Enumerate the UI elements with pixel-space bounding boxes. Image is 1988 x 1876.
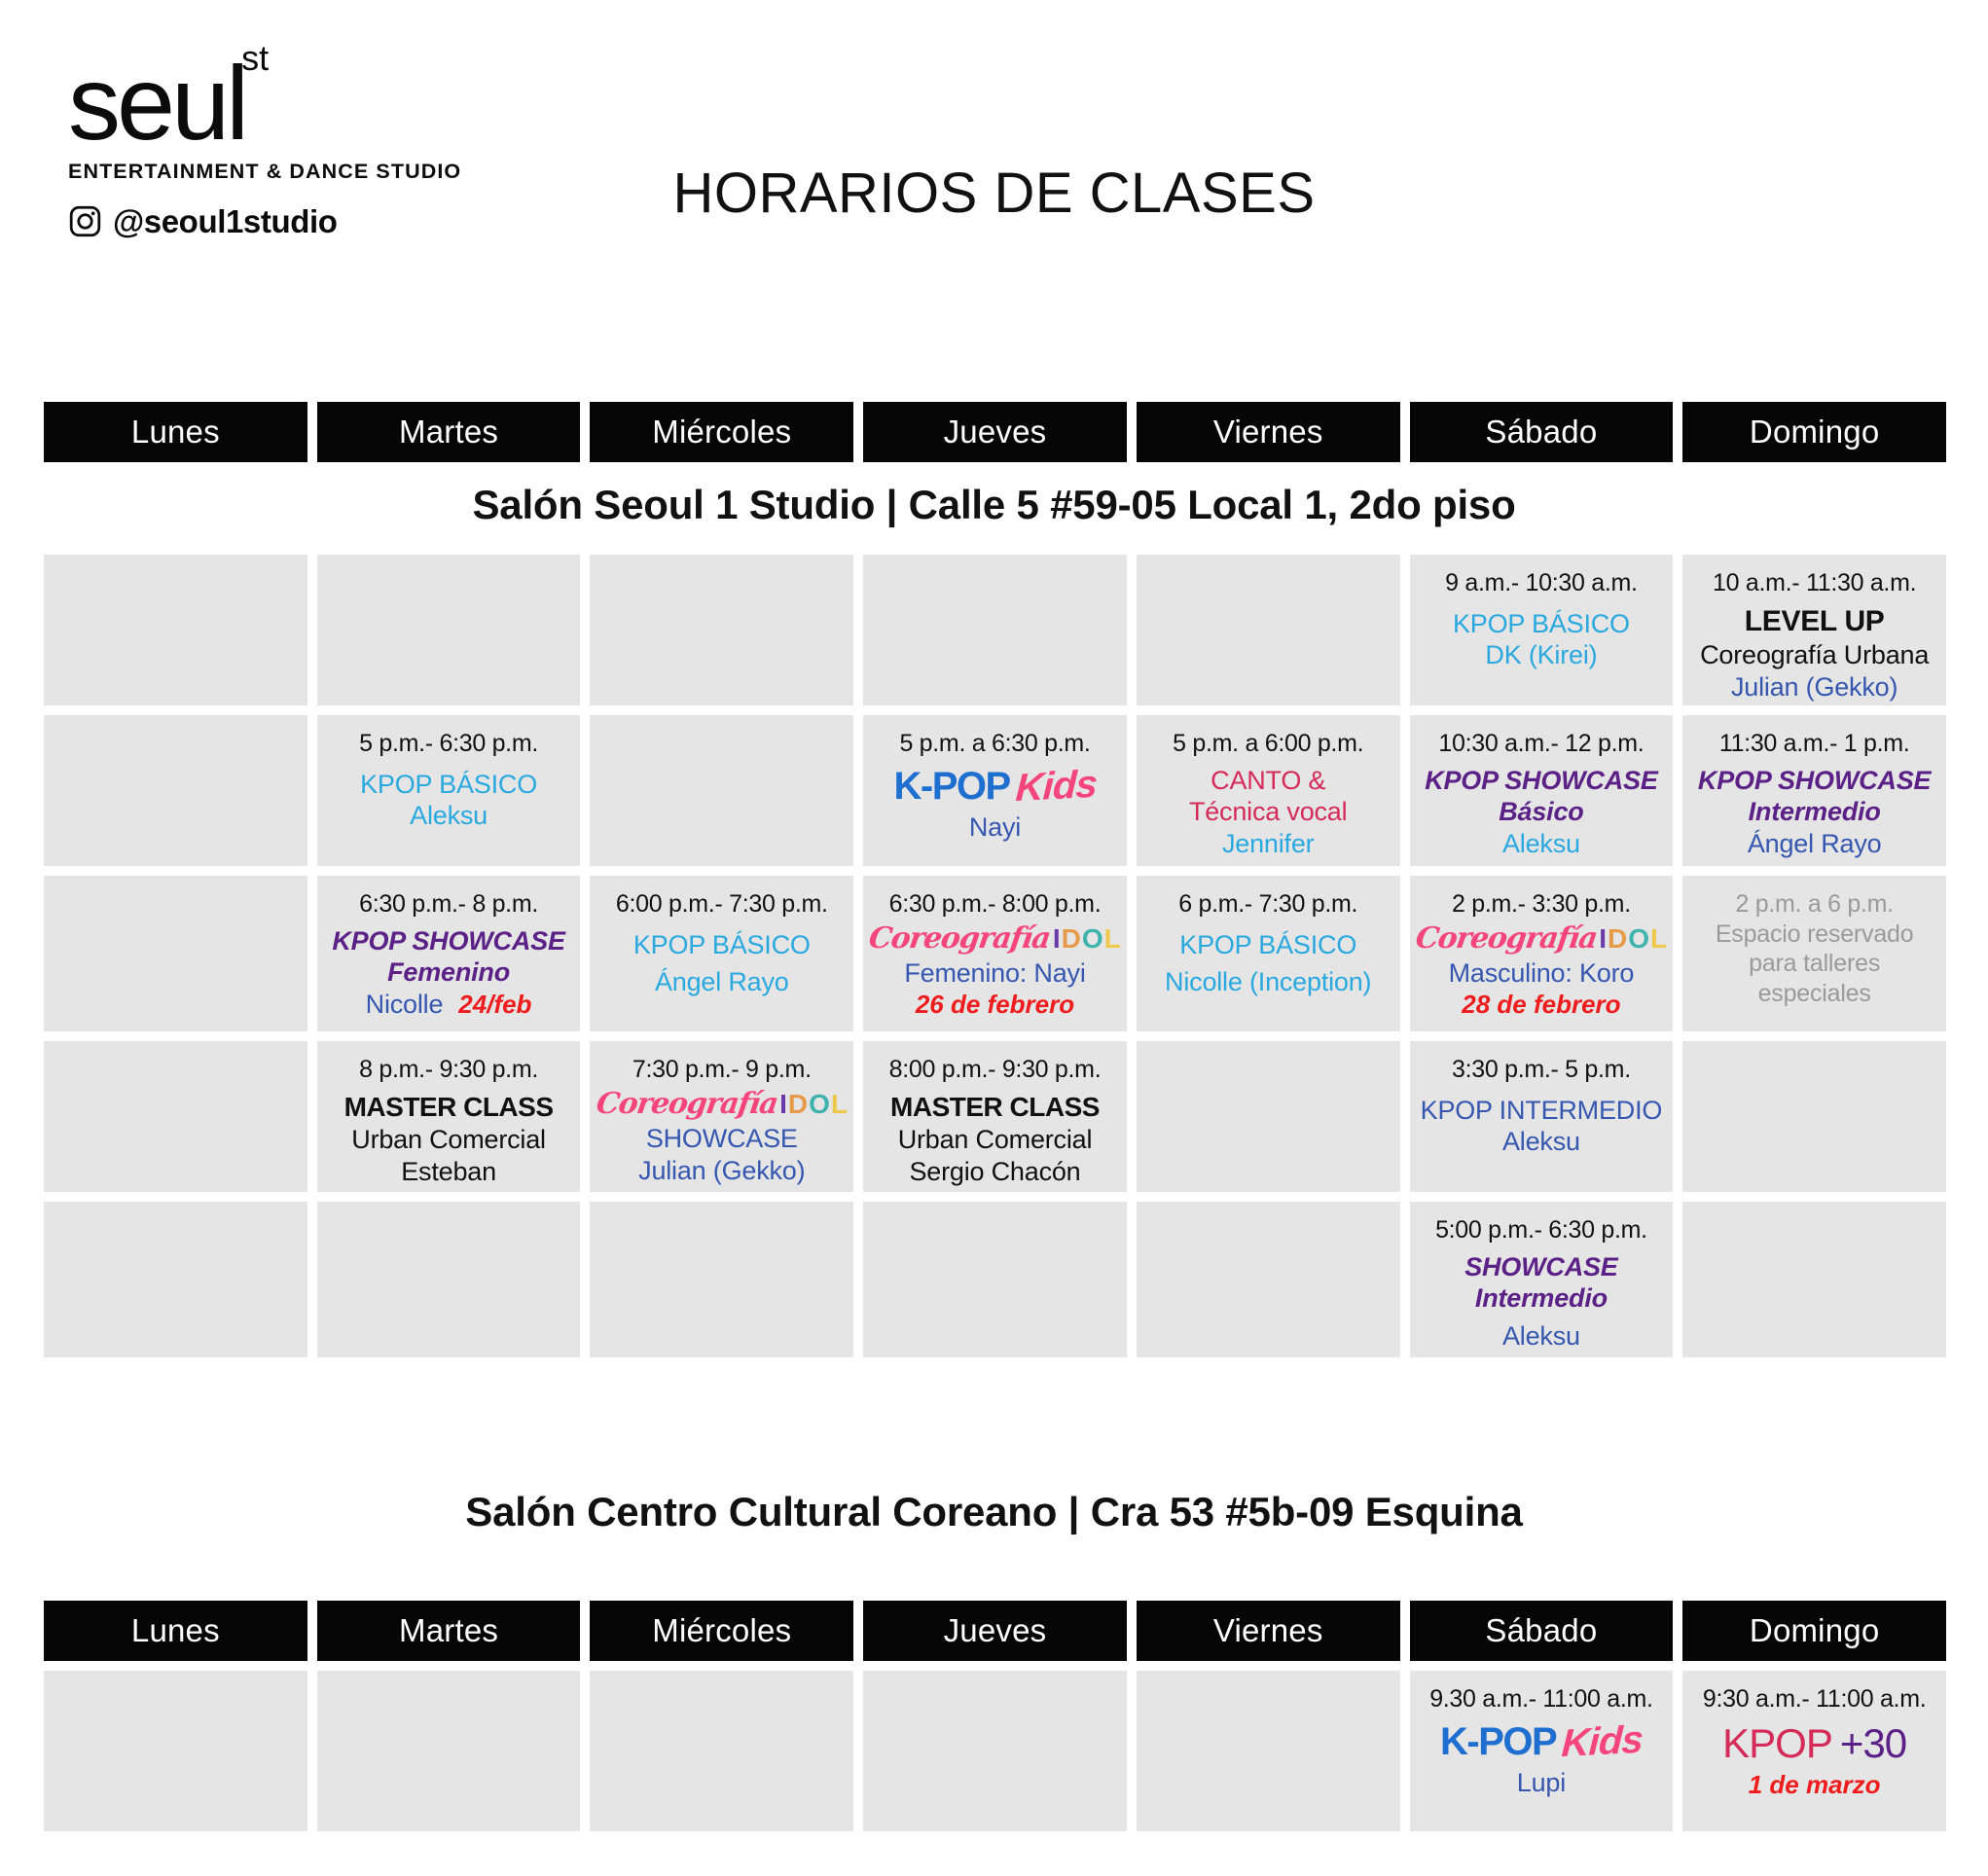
idol-letter-o: O <box>1628 925 1649 953</box>
class-level: Básico <box>1499 796 1583 828</box>
venue-title-2: Salón Centro Cultural Coreano | Cra 53 #… <box>0 1489 1988 1535</box>
reserved-time: 2 p.m. a 6 p.m. <box>1736 889 1894 920</box>
instructor-date-row: Nicolle 24/feb <box>366 989 532 1021</box>
class-name: SHOWCASE <box>1464 1251 1617 1283</box>
class-group: Masculino: Koro <box>1449 957 1635 990</box>
cell-viernes-r1 <box>1137 555 1400 705</box>
cell-domingo-r4 <box>1682 1041 1946 1192</box>
class-time: 9:30 a.m.- 11:00 a.m. <box>1703 1684 1926 1714</box>
class-instructor: Ángel Rayo <box>1748 828 1882 860</box>
class-time: 7:30 p.m.- 9 p.m. <box>633 1055 812 1085</box>
class-instructor: DK (Kirei) <box>1485 639 1597 671</box>
cell-martes-r2[interactable]: 5 p.m.- 6:30 p.m. KPOP BÁSICO Aleksu <box>317 715 581 866</box>
class-time: 6:00 p.m.- 7:30 p.m. <box>616 889 828 920</box>
class-instructor: Aleksu <box>1502 828 1580 860</box>
cell-jueves-r5 <box>863 1202 1127 1357</box>
idol-letter-i: I <box>1599 925 1607 953</box>
cell-sabado-r4[interactable]: 3:30 p.m.- 5 p.m. KPOP INTERMEDIO Aleksu <box>1410 1041 1674 1192</box>
cell2-jueves-r1 <box>863 1671 1127 1831</box>
class-instructor: Nicolle <box>366 989 444 1021</box>
kpop-kids-logo: K-POP Kids <box>1440 1718 1643 1766</box>
class-name: KPOP BÁSICO <box>1179 929 1356 961</box>
page-title: HORARIOS DE CLASES <box>0 161 1988 226</box>
coreografia-idol-logo: Coreografía IDOL <box>596 1087 848 1123</box>
idol-letter-i: I <box>1053 925 1061 953</box>
day-header-row-1: Lunes Martes Miércoles Jueves Viernes Sá… <box>44 402 1946 462</box>
day-header-sabado: Sábado <box>1410 402 1674 462</box>
idol-letter-d: D <box>1608 925 1627 953</box>
day-header-miercoles: Miércoles <box>590 402 853 462</box>
idol-lettering: IDOL <box>1599 925 1667 953</box>
schedule-row-4: 8 p.m.- 9:30 p.m. MASTER CLASS Urban Com… <box>44 1041 1946 1192</box>
day-header-jueves-2: Jueves <box>863 1601 1127 1661</box>
idol-letter-d: D <box>1062 925 1081 953</box>
class-subtitle: Coreografía Urbana <box>1700 639 1929 671</box>
day-header-jueves: Jueves <box>863 402 1127 462</box>
schedule-row-5: 5:00 p.m.- 6:30 p.m. SHOWCASE Intermedio… <box>44 1202 1946 1357</box>
reserved-line-2: para talleres <box>1749 949 1880 979</box>
cell-viernes-r3[interactable]: 6 p.m.- 7:30 p.m. KPOP BÁSICO Nicolle (I… <box>1137 876 1400 1031</box>
kpop-plus30-main: KPOP <box>1722 1718 1832 1768</box>
class-instructor: Ángel Rayo <box>655 966 789 998</box>
class-instructor: Esteban <box>401 1156 496 1188</box>
idol-letter-l: L <box>831 1091 848 1118</box>
class-time: 10:30 a.m.- 12 p.m. <box>1438 729 1644 759</box>
cell-sabado-r2[interactable]: 10:30 a.m.- 12 p.m. KPOP SHOWCASE Básico… <box>1410 715 1674 866</box>
class-instructor: Lupi <box>1517 1767 1566 1799</box>
logo-wordmark-sup: st <box>241 38 269 78</box>
class-level: Intermedio <box>1475 1282 1608 1315</box>
cell2-domingo-r1[interactable]: 9:30 a.m.- 11:00 a.m. KPOP +30 1 de marz… <box>1682 1671 1946 1831</box>
class-time: 2 p.m.- 3:30 p.m. <box>1452 889 1631 920</box>
reserved-line-1: Espacio reservado <box>1716 920 1914 950</box>
idol-letter-l: L <box>1650 925 1667 953</box>
kpop-plus30-age: +30 <box>1840 1718 1906 1768</box>
cell-jueves-r4[interactable]: 8:00 p.m.- 9:30 p.m. MASTER CLASS Urban … <box>863 1041 1127 1192</box>
cell-lunes-r4 <box>44 1041 307 1192</box>
cell-viernes-r4 <box>1137 1041 1400 1192</box>
day-header-viernes-2: Viernes <box>1137 1601 1400 1661</box>
cell-miercoles-r1 <box>590 555 853 705</box>
kpop-kids-logo-main: K-POP <box>894 763 1010 811</box>
day-header-lunes: Lunes <box>44 402 307 462</box>
class-subtitle: Técnica vocal <box>1189 796 1347 828</box>
class-instructor: Nicolle (Inception) <box>1165 966 1371 998</box>
schedule-row-2: 5 p.m.- 6:30 p.m. KPOP BÁSICO Aleksu 5 p… <box>44 715 1946 866</box>
kpop-kids-logo-kids: Kids <box>1014 760 1098 812</box>
cell-miercoles-r2 <box>590 715 853 866</box>
class-instructor: Jennifer <box>1222 828 1314 860</box>
class-time: 6:30 p.m.- 8 p.m. <box>359 889 538 920</box>
day-header-domingo: Domingo <box>1682 402 1946 462</box>
day-header-martes: Martes <box>317 402 581 462</box>
idol-letter-i: I <box>779 1091 787 1118</box>
class-time: 9 a.m.- 10:30 a.m. <box>1445 568 1637 598</box>
class-name: KPOP BÁSICO <box>360 769 537 801</box>
class-name: KPOP SHOWCASE <box>1698 765 1931 797</box>
cell-lunes-r3 <box>44 876 307 1031</box>
class-name: MASTER CLASS <box>344 1091 554 1124</box>
cell-domingo-r3: 2 p.m. a 6 p.m. Espacio reservado para t… <box>1682 876 1946 1031</box>
cell-viernes-r5 <box>1137 1202 1400 1357</box>
cell-lunes-r5 <box>44 1202 307 1357</box>
idol-letter-d: D <box>788 1091 808 1118</box>
kpop-kids-logo-main: K-POP <box>1440 1718 1556 1766</box>
idol-lettering: IDOL <box>1053 925 1121 953</box>
kpop-kids-logo-kids: Kids <box>1561 1715 1645 1767</box>
day-header-row-2: Lunes Martes Miércoles Jueves Viernes Sá… <box>44 1601 1946 1661</box>
schedule-page: seulst ENTERTAINMENT & DANCE STUDIO @seo… <box>0 0 1988 1876</box>
cell2-miercoles-r1 <box>590 1671 853 1831</box>
idol-letter-l: L <box>1104 925 1121 953</box>
cell-domingo-r2[interactable]: 11:30 a.m.- 1 p.m. KPOP SHOWCASE Interme… <box>1682 715 1946 866</box>
coreografia-script: Coreografía <box>594 1087 779 1123</box>
cell-jueves-r1 <box>863 555 1127 705</box>
idol-letter-o: O <box>1082 925 1103 953</box>
class-name: KPOP BÁSICO <box>1453 608 1630 640</box>
cell-martes-r4[interactable]: 8 p.m.- 9:30 p.m. MASTER CLASS Urban Com… <box>317 1041 581 1192</box>
cell-miercoles-r4[interactable]: 7:30 p.m.- 9 p.m. Coreografía IDOL SHOWC… <box>590 1041 853 1192</box>
cell-sabado-r1[interactable]: 9 a.m.- 10:30 a.m. KPOP BÁSICO DK (Kirei… <box>1410 555 1674 705</box>
class-name: LEVEL UP <box>1745 604 1885 640</box>
cell2-sabado-r1[interactable]: 9.30 a.m.- 11:00 a.m. K-POP Kids Lupi <box>1410 1671 1674 1831</box>
class-level: SHOWCASE <box>646 1123 798 1155</box>
class-date-badge: 28 de febrero <box>1462 990 1620 1021</box>
class-time: 8 p.m.- 9:30 p.m. <box>359 1055 538 1085</box>
class-instructor: Sergio Chacón <box>909 1156 1080 1188</box>
cell-martes-r1 <box>317 555 581 705</box>
idol-lettering: IDOL <box>779 1091 848 1118</box>
class-name: KPOP BÁSICO <box>633 929 811 961</box>
class-style: Urban Comercial <box>898 1124 1093 1156</box>
cell2-martes-r1 <box>317 1671 581 1831</box>
class-date-badge: 1 de marzo <box>1749 1770 1881 1801</box>
class-level: Femenino <box>387 956 510 989</box>
kpop-kids-logo: K-POP Kids <box>894 763 1097 811</box>
coreografia-script: Coreografía <box>867 921 1053 957</box>
cell-viernes-r2[interactable]: 5 p.m. a 6:00 p.m. CANTO & Técnica vocal… <box>1137 715 1400 866</box>
class-time: 9.30 a.m.- 11:00 a.m. <box>1429 1684 1652 1714</box>
coreografia-script: Coreografía <box>1413 921 1599 957</box>
logo-wordmark-text: seul <box>68 44 245 162</box>
class-time: 3:30 p.m.- 5 p.m. <box>1452 1055 1631 1085</box>
schedule-row-3: 6:30 p.m.- 8 p.m. KPOP SHOWCASE Femenino… <box>44 876 1946 1031</box>
class-time: 6:30 p.m.- 8:00 p.m. <box>889 889 1102 920</box>
venue-title-1: Salón Seoul 1 Studio | Calle 5 #59-05 Lo… <box>0 482 1988 528</box>
day-header-domingo-2: Domingo <box>1682 1601 1946 1661</box>
cell-jueves-r2[interactable]: 5 p.m. a 6:30 p.m. K-POP Kids Nayi <box>863 715 1127 866</box>
kpop-plus30-logo: KPOP +30 <box>1722 1718 1906 1768</box>
class-time: 5 p.m. a 6:00 p.m. <box>1173 729 1363 759</box>
cell-miercoles-r3[interactable]: 6:00 p.m.- 7:30 p.m. KPOP BÁSICO Ángel R… <box>590 876 853 1031</box>
class-date-badge: 24/feb <box>458 990 531 1021</box>
schedule-row-1: 9 a.m.- 10:30 a.m. KPOP BÁSICO DK (Kirei… <box>44 555 1946 705</box>
cell2-viernes-r1 <box>1137 1671 1400 1831</box>
class-instructor: Julian (Gekko) <box>1731 671 1898 703</box>
cell-domingo-r5 <box>1682 1202 1946 1357</box>
cell-miercoles-r5 <box>590 1202 853 1357</box>
cell-lunes-r1 <box>44 555 307 705</box>
class-group: Femenino: Nayi <box>904 957 1085 990</box>
page-header: seulst ENTERTAINMENT & DANCE STUDIO @seo… <box>0 0 1988 321</box>
day-header-miercoles-2: Miércoles <box>590 1601 853 1661</box>
class-instructor: Nayi <box>969 812 1021 844</box>
class-time: 5 p.m.- 6:30 p.m. <box>359 729 538 759</box>
cell-martes-r3[interactable]: 6:30 p.m.- 8 p.m. KPOP SHOWCASE Femenino… <box>317 876 581 1031</box>
idol-letter-o: O <box>809 1091 830 1118</box>
class-time: 6 p.m.- 7:30 p.m. <box>1178 889 1357 920</box>
class-level: Intermedio <box>1749 796 1881 828</box>
cell-domingo-r1[interactable]: 10 a.m.- 11:30 a.m. LEVEL UP Coreografía… <box>1682 555 1946 705</box>
class-date-badge: 26 de febrero <box>916 990 1074 1021</box>
class-name: KPOP SHOWCASE <box>332 925 564 957</box>
class-time: 5:00 p.m.- 6:30 p.m. <box>1435 1215 1647 1245</box>
reserved-line-3: especiales <box>1758 979 1871 1009</box>
class-name: MASTER CLASS <box>890 1091 1100 1124</box>
coreografia-idol-logo: Coreografía IDOL <box>1416 921 1667 957</box>
class-instructor: Aleksu <box>1502 1320 1580 1353</box>
class-style: Urban Comercial <box>351 1124 546 1156</box>
day-header-viernes: Viernes <box>1137 402 1400 462</box>
cell-sabado-r3[interactable]: 2 p.m.- 3:30 p.m. Coreografía IDOL Mascu… <box>1410 876 1674 1031</box>
coreografia-idol-logo: Coreografía IDOL <box>869 921 1120 957</box>
cell-lunes-r2 <box>44 715 307 866</box>
class-instructor: Julian (Gekko) <box>638 1155 805 1187</box>
class-name: KPOP INTERMEDIO <box>1421 1095 1663 1127</box>
logo-wordmark: seulst <box>68 54 272 154</box>
day-header-sabado-2: Sábado <box>1410 1601 1674 1661</box>
class-name: CANTO & <box>1211 765 1325 797</box>
cell-martes-r5 <box>317 1202 581 1357</box>
cell2-lunes-r1 <box>44 1671 307 1831</box>
cell-jueves-r3[interactable]: 6:30 p.m.- 8:00 p.m. Coreografía IDOL Fe… <box>863 876 1127 1031</box>
class-instructor: Aleksu <box>1502 1126 1580 1158</box>
schedule2-row-1: 9.30 a.m.- 11:00 a.m. K-POP Kids Lupi 9:… <box>44 1671 1946 1831</box>
day-header-martes-2: Martes <box>317 1601 581 1661</box>
class-time: 8:00 p.m.- 9:30 p.m. <box>889 1055 1102 1085</box>
class-time: 5 p.m. a 6:30 p.m. <box>899 729 1090 759</box>
class-instructor: Aleksu <box>410 800 488 832</box>
day-header-lunes-2: Lunes <box>44 1601 307 1661</box>
cell-sabado-r5[interactable]: 5:00 p.m.- 6:30 p.m. SHOWCASE Intermedio… <box>1410 1202 1674 1357</box>
class-time: 11:30 a.m.- 1 p.m. <box>1719 729 1910 759</box>
class-time: 10 a.m.- 11:30 a.m. <box>1713 568 1916 598</box>
class-name: KPOP SHOWCASE <box>1425 765 1657 797</box>
